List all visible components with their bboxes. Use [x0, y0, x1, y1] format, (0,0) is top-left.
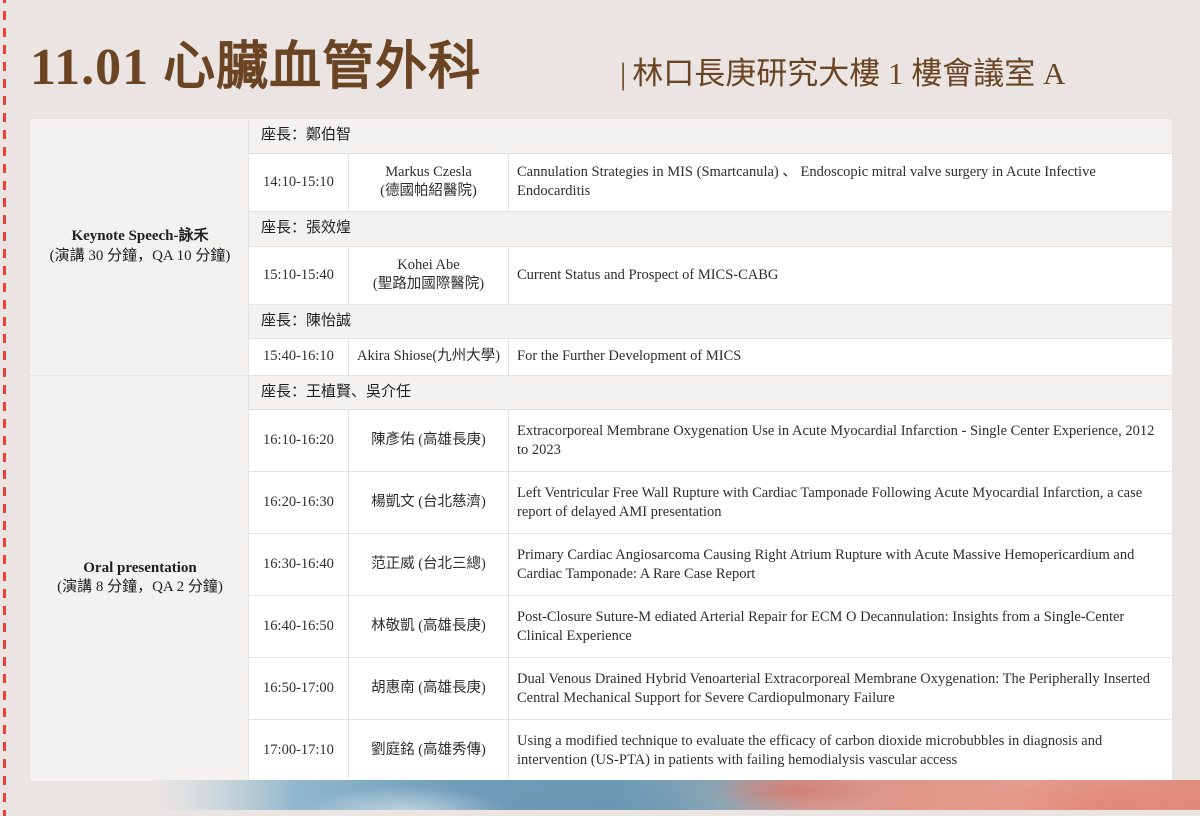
table-row: Oral presentation (演講 8 分鐘，QA 2 分鐘) 座長：王…: [30, 375, 1173, 410]
session-speaker: Kohei Abe (聖路加國際醫院): [349, 246, 509, 304]
session-speaker: 范正威 (台北三總): [349, 534, 509, 596]
schedule-table: Keynote Speech-詠禾 (演講 30 分鐘，QA 10 分鐘) 座長…: [29, 118, 1173, 782]
session-topic: Primary Cardiac Angiosarcoma Causing Rig…: [509, 534, 1173, 596]
chair-label: 座長：鄭伯智: [249, 119, 1173, 154]
session-time: 16:30-16:40: [249, 534, 349, 596]
section-note: (演講 30 分鐘，QA 10 分鐘): [50, 248, 231, 264]
session-topic: Extracorporeal Membrane Oxygenation Use …: [509, 410, 1173, 472]
session-speaker: 林敬凱 (高雄長庚): [349, 596, 509, 658]
session-speaker: 胡惠南 (高雄長庚): [349, 658, 509, 720]
divider-bar-icon: |: [620, 56, 626, 91]
section-note: (演講 8 分鐘，QA 2 分鐘): [57, 579, 223, 595]
speaker-name: Kohei Abe: [397, 257, 459, 273]
chair-label: 座長：王植賢、吳介任: [249, 375, 1173, 410]
session-time: 15:10-15:40: [249, 246, 349, 304]
session-speaker: 劉庭銘 (高雄秀傳): [349, 720, 509, 782]
session-time: 16:20-16:30: [249, 472, 349, 534]
session-time: 16:10-16:20: [249, 410, 349, 472]
session-speaker: 楊凱文 (台北慈濟): [349, 472, 509, 534]
chair-label: 座長：陳怡誠: [249, 304, 1173, 339]
session-time: 16:50-17:00: [249, 658, 349, 720]
session-topic: Left Ventricular Free Wall Rupture with …: [509, 472, 1173, 534]
session-topic: Dual Venous Drained Hybrid Venoarterial …: [509, 658, 1173, 720]
schedule-body: Keynote Speech-詠禾 (演講 30 分鐘，QA 10 分鐘) 座長…: [30, 119, 1173, 782]
session-time: 15:40-16:10: [249, 339, 349, 375]
session-time: 14:10-15:10: [249, 153, 349, 211]
venue-text: 林口長庚研究大樓 1 樓會議室 A: [632, 56, 1065, 91]
section-name: Keynote Speech-詠禾: [71, 228, 208, 244]
watercolor-left-fade: [155, 780, 295, 810]
venue-label: |林口長庚研究大樓 1 樓會議室 A: [620, 48, 1065, 93]
session-time: 16:40-16:50: [249, 596, 349, 658]
session-topic: For the Further Development of MICS: [509, 339, 1173, 375]
watercolor-gradient: [155, 780, 1200, 810]
session-time: 17:00-17:10: [249, 720, 349, 782]
session-topic: Current Status and Prospect of MICS-CABG: [509, 246, 1173, 304]
section-label-keynote: Keynote Speech-詠禾 (演講 30 分鐘，QA 10 分鐘): [30, 119, 249, 376]
session-speaker: 陳彥佑 (高雄長庚): [349, 410, 509, 472]
left-edge-dashed-rule: [3, 0, 6, 816]
section-label-oral: Oral presentation (演講 8 分鐘，QA 2 分鐘): [30, 375, 249, 782]
session-topic: Cannulation Strategies in MIS (Smartcanu…: [509, 153, 1173, 211]
session-speaker: Markus Czesla (德國帕紹醫院): [349, 153, 509, 211]
watercolor-footer-decoration: [0, 780, 1200, 810]
table-row: Keynote Speech-詠禾 (演講 30 分鐘，QA 10 分鐘) 座長…: [30, 119, 1173, 154]
session-topic: Using a modified technique to evaluate t…: [509, 720, 1173, 782]
page-title: 11.01 心臟血管外科: [30, 24, 481, 99]
section-name: Oral presentation: [83, 560, 196, 576]
chair-label: 座長：張效煌: [249, 211, 1173, 246]
speaker-name: Markus Czesla: [385, 164, 472, 180]
session-speaker: Akira Shiose(九州大學): [349, 339, 509, 375]
page-header: 11.01 心臟血管外科 |林口長庚研究大樓 1 樓會議室 A: [0, 0, 1200, 112]
speaker-affiliation: (德國帕紹醫院): [353, 182, 504, 201]
speaker-affiliation: (聖路加國際醫院): [353, 275, 504, 294]
session-topic: Post-Closure Suture-M ediated Arterial R…: [509, 596, 1173, 658]
